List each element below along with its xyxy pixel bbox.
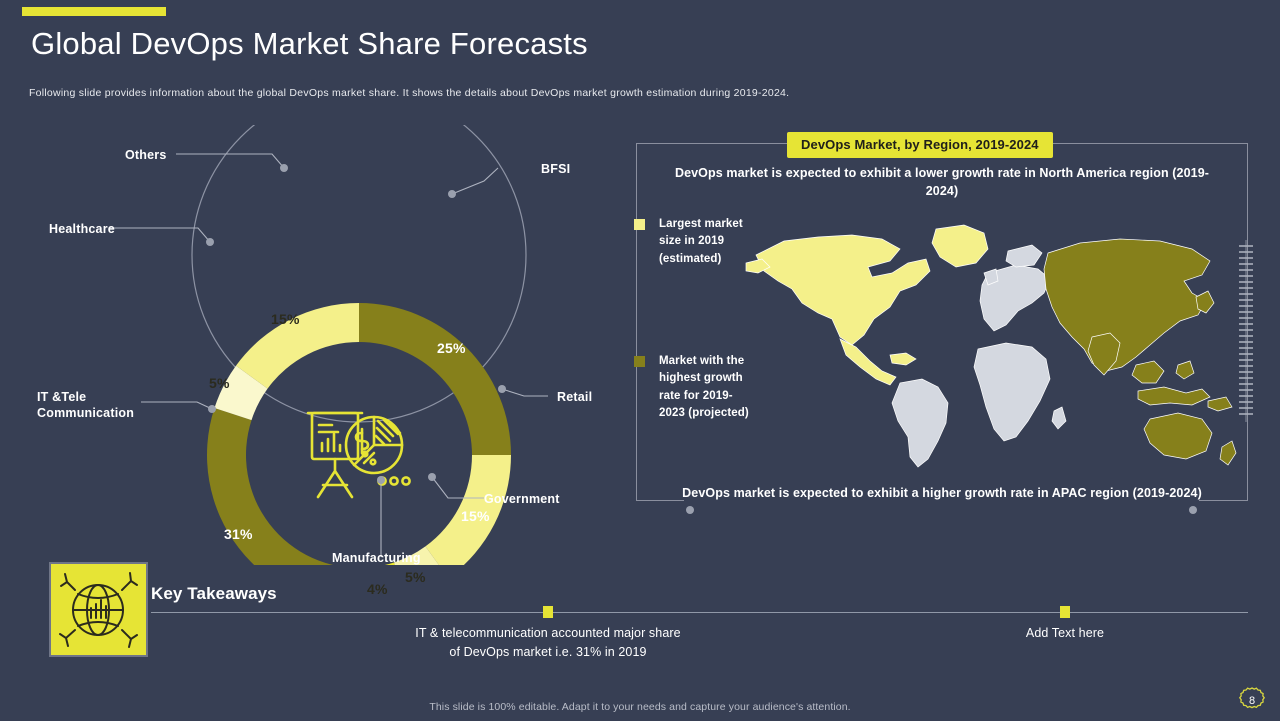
map-region-africa [974,343,1050,441]
map-region-madagascar [1052,407,1066,429]
globe-analytics-icon [51,564,146,655]
page-title: Global DevOps Market Share Forecasts [31,26,588,62]
key-takeaways-rule [151,612,1248,613]
category-label-government: Government [484,491,560,507]
map-region-caribbean [890,353,916,365]
map-region-scandinavia [1006,245,1042,267]
map-region-greenland [932,225,988,267]
key-takeaway-item-1: IT & telecommunication accounted major s… [388,624,708,662]
it-telecom-line1: IT &Tele [37,390,86,404]
map-region-north-america [756,235,930,345]
category-label-bfsi: BFSI [541,161,570,177]
connector-dot-left [686,506,694,514]
map-region-mexico-ca [840,339,896,385]
map-region-indonesia [1138,387,1210,405]
key-takeaway-1-line1: IT & telecommunication accounted major s… [415,626,680,640]
category-label-healthcare: Healthcare [49,221,115,237]
map-region-philippines [1176,361,1194,379]
map-title-banner: DevOps Market, by Region, 2019-2024 [787,132,1053,158]
key-takeaway-item-2: Add Text here [905,624,1225,643]
key-takeaway-2-line1: Add Text here [1026,626,1104,640]
page-number: 8 [1237,686,1267,716]
footer-note: This slide is 100% editable. Adapt it to… [0,701,1280,713]
category-label-retail: Retail [557,389,592,405]
map-region-australia [1144,413,1212,459]
legend-swatch-yellow [634,219,645,230]
donut-chart-panel: 25% 15% 5% 4% 31% 5% 15% Others BFSI Hea… [0,125,630,565]
category-label-others: Others [125,147,167,163]
category-label-it-telecom: IT &Tele Communication [37,389,134,422]
map-region-japan [1196,291,1214,313]
world-map [740,215,1240,475]
slice-value-government: 5% [405,569,426,585]
slice-value-manufacturing: 4% [367,581,388,597]
key-takeaways-title: Key Takeaways [151,584,277,604]
key-takeaway-marker-1 [543,606,553,618]
it-telecom-line2: Communication [37,406,134,420]
key-takeaways-icon-box [49,562,148,657]
map-region-south-america [892,379,948,467]
category-label-manufacturing: Manufacturing [332,550,421,566]
map-region-sea [1132,361,1164,383]
key-takeaway-1-line2: of DevOps market i.e. 31% in 2019 [449,645,646,659]
map-region-asia [1044,239,1210,371]
map-frame-left [636,143,637,501]
key-takeaway-marker-2 [1060,606,1070,618]
connector-dot-right [1189,506,1197,514]
page-subtitle: Following slide provides information abo… [29,87,789,99]
map-note-north-america: DevOps market is expected to exhibit a l… [672,164,1212,200]
map-region-png [1208,397,1232,411]
top-accent-bar [22,7,166,16]
legend-swatch-olive [634,356,645,367]
right-edge-hatch-decoration [1239,240,1253,422]
map-bottom-connectors [620,460,1240,530]
page-number-badge: 8 [1237,686,1267,716]
